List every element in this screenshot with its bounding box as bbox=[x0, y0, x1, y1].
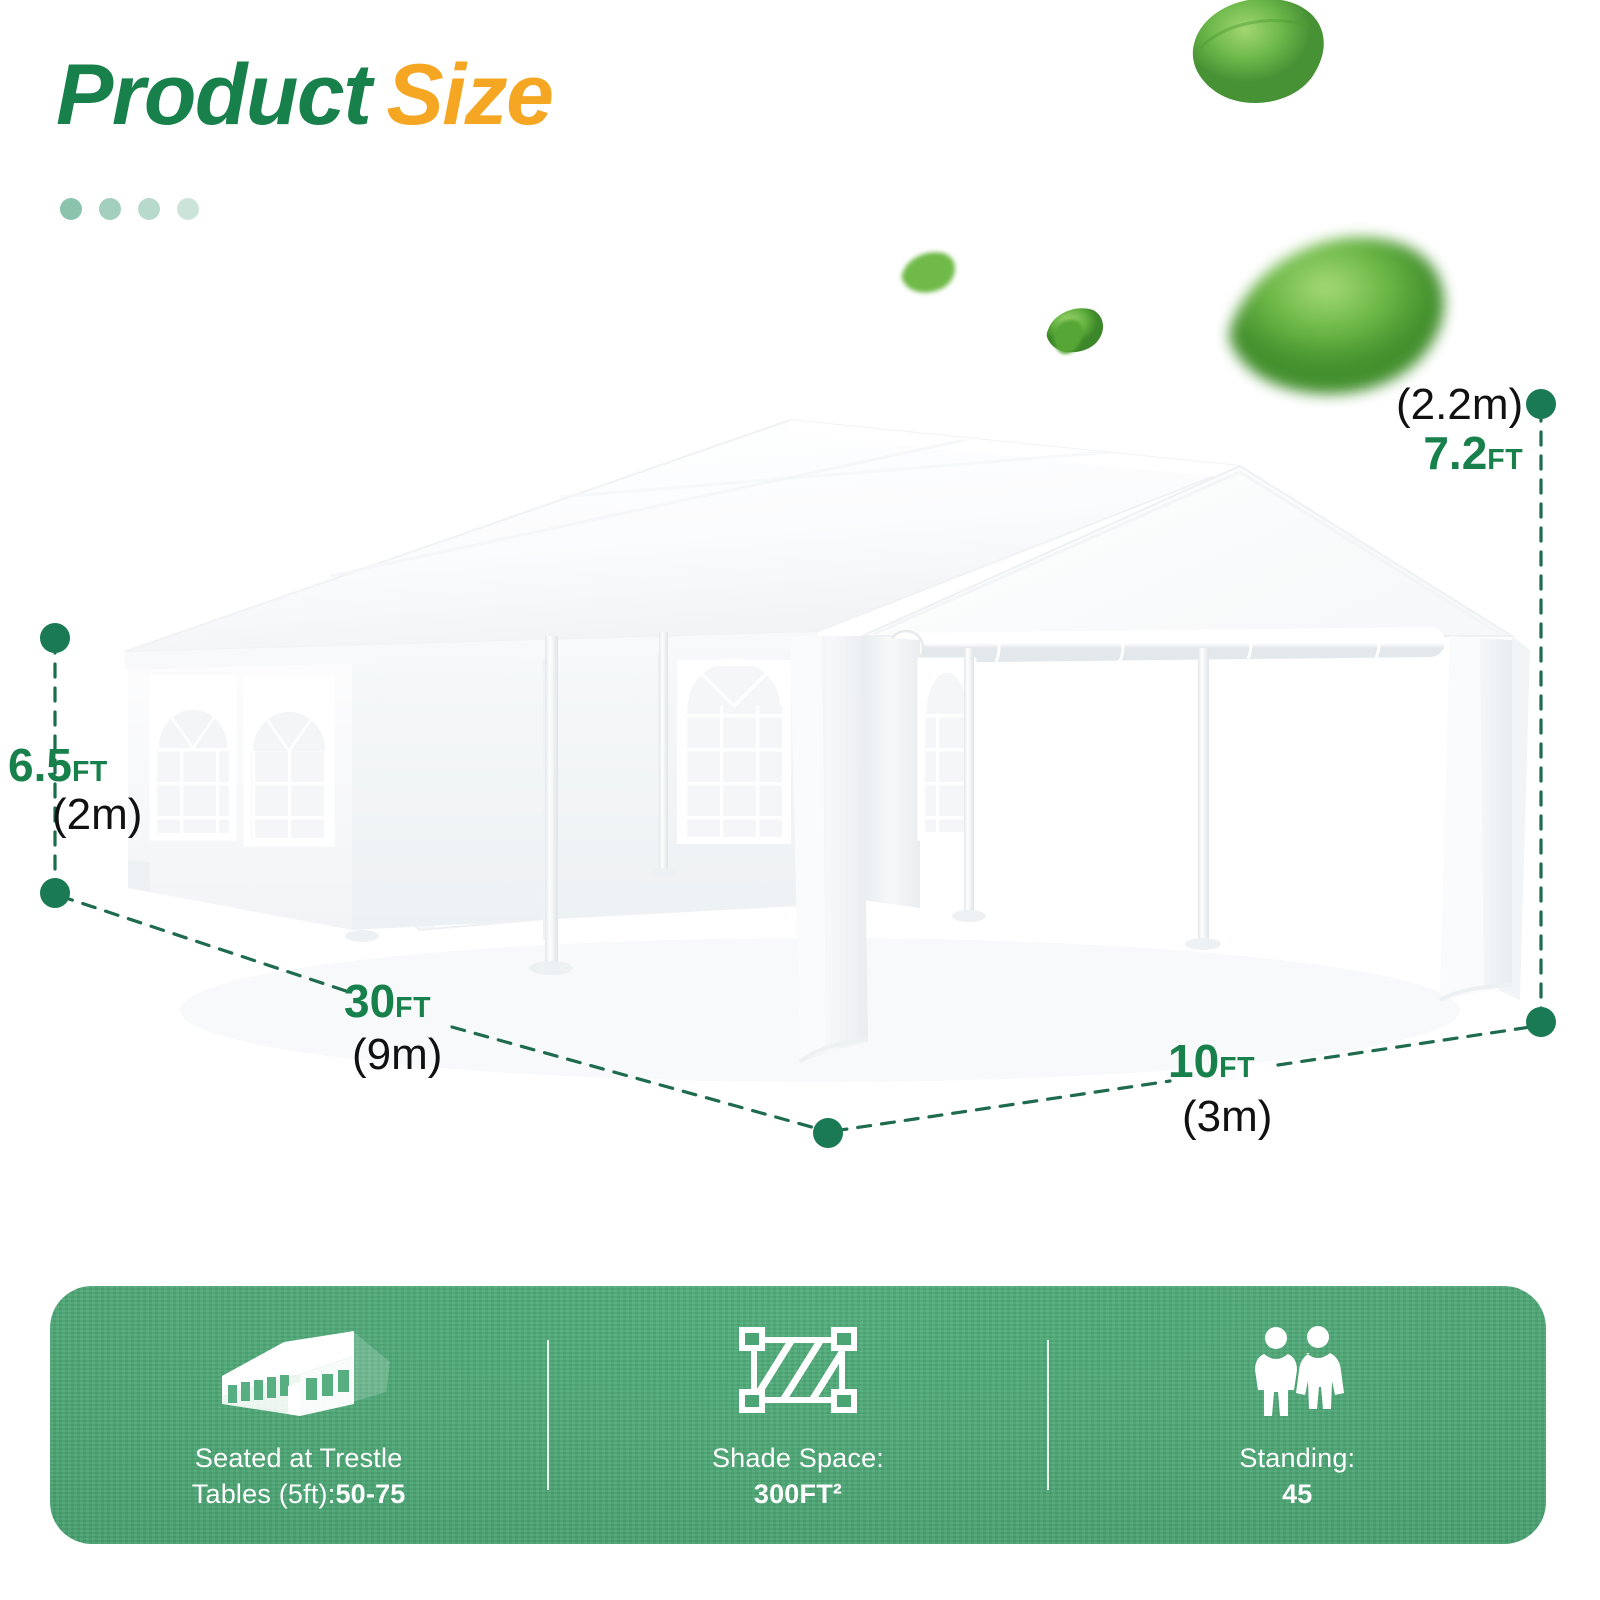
window-left-2 bbox=[246, 680, 332, 844]
dimension-label-width: 10FT (3m) bbox=[1168, 1038, 1272, 1140]
spec-standing-line1: Standing: bbox=[1239, 1443, 1355, 1473]
tent-end-wall-left bbox=[128, 648, 352, 930]
tent-back-wall bbox=[352, 620, 818, 940]
width-feet: 10FT bbox=[1168, 1038, 1272, 1086]
dim-dot-top-right bbox=[1526, 389, 1556, 419]
dim-dot-top-left bbox=[40, 623, 70, 653]
spec-item-standing: Standing: 45 bbox=[1049, 1286, 1546, 1544]
window-back bbox=[680, 660, 788, 841]
spec-shade-value: 300FT² bbox=[754, 1479, 842, 1509]
height-left-feet: 6.5FT bbox=[8, 742, 142, 790]
dimension-label-length: 30FT (9m) bbox=[344, 978, 442, 1078]
two-people-icon bbox=[1238, 1326, 1356, 1418]
spec-seated-text: Seated at Trestle Tables (5ft):50-75 bbox=[192, 1440, 406, 1512]
tent-front-column bbox=[790, 636, 868, 1062]
spec-standing-text: Standing: 45 bbox=[1239, 1440, 1355, 1512]
spec-shade-line1: Shade Space: bbox=[712, 1443, 884, 1473]
dimline-width-a bbox=[834, 1081, 1170, 1131]
height-right-meters: (2.2m) bbox=[1396, 380, 1523, 429]
spec-shade-text: Shade Space: 300FT² bbox=[712, 1440, 884, 1512]
height-left-meters: (2m) bbox=[52, 792, 142, 838]
party-tent-icon bbox=[204, 1326, 394, 1418]
length-feet: 30FT bbox=[344, 978, 442, 1026]
dim-dot-front-corner bbox=[813, 1118, 843, 1148]
spec-standing-value: 45 bbox=[1282, 1479, 1312, 1509]
height-right-feet: 7.2FT bbox=[1396, 430, 1523, 478]
dim-dot-bottom-right bbox=[1526, 1007, 1556, 1037]
width-meters: (3m) bbox=[1182, 1094, 1272, 1140]
spec-item-seated: Seated at Trestle Tables (5ft):50-75 bbox=[50, 1286, 547, 1544]
tent-illustration bbox=[0, 0, 1600, 1250]
dimension-label-height-left: 6.5FT (2m) bbox=[8, 742, 142, 838]
hatched-area-icon bbox=[734, 1326, 862, 1418]
window-left-1 bbox=[152, 678, 234, 838]
dim-dot-bottom-left bbox=[40, 878, 70, 908]
dimension-label-height-right: (2.2m) 7.2FT bbox=[1396, 382, 1523, 478]
spec-item-shade: Shade Space: 300FT² bbox=[549, 1286, 1046, 1544]
infographic-canvas: ProductSize bbox=[0, 0, 1600, 1600]
length-meters: (9m) bbox=[352, 1032, 442, 1078]
spec-seated-line2-label: Tables (5ft): bbox=[192, 1479, 336, 1509]
tent-end-wall-right bbox=[862, 636, 974, 908]
tent-right-column bbox=[1440, 636, 1512, 1000]
spec-seated-line1: Seated at Trestle bbox=[195, 1443, 403, 1473]
specs-footer-panel: Seated at Trestle Tables (5ft):50-75 bbox=[50, 1286, 1546, 1544]
spec-seated-line2-value: 50-75 bbox=[335, 1479, 405, 1509]
